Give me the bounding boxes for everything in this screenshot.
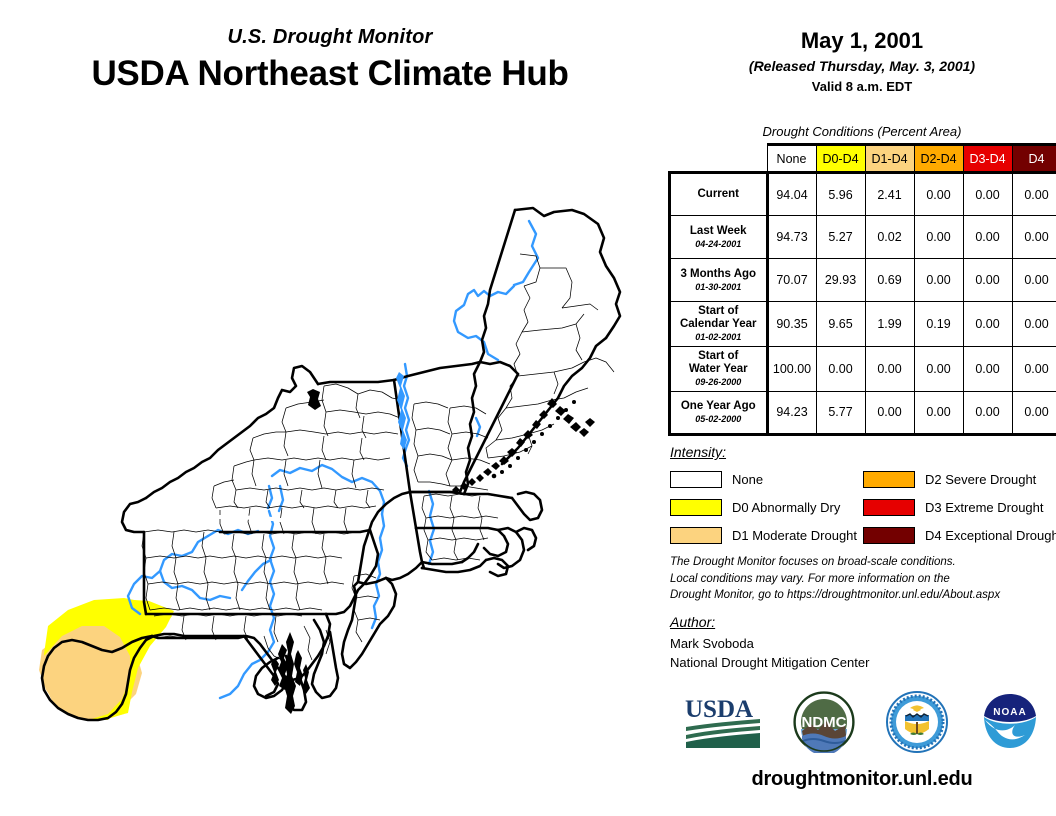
us-northeast-drought-map [24,186,660,726]
ndmc-logo-icon: NDMC [793,691,855,753]
legend-column-left: NoneD0 Abnormally DryD1 Moderate Drought [670,467,863,551]
table-cell: 1.99 [865,302,914,347]
table-row: Start ofWater Year09-26-2000100.000.000.… [670,346,1056,391]
drought-conditions-table-wrap: NoneD0-D4D1-D4D2-D4D3-D4D4 Current94.045… [668,143,1053,436]
table-corner-cell [670,145,768,173]
table-cell: 94.04 [767,173,816,216]
legend-swatch [670,527,722,544]
legend-label: D3 Extreme Drought [925,500,1044,515]
table-cell: 94.73 [767,216,816,259]
table-cell: 0.00 [914,173,963,216]
table-cell: 0.00 [1012,391,1056,434]
table-row-label: Start ofWater Year09-26-2000 [670,346,768,391]
table-cell: 0.00 [963,259,1012,302]
table-caption: Drought Conditions (Percent Area) [668,124,1056,139]
row-label-date: 05-02-2000 [673,414,764,424]
intensity-legend: Intensity: NoneD0 Abnormally DryD1 Moder… [670,444,1056,551]
author-heading: Author: [670,614,1056,630]
logo-row: USDA NDMC [668,688,1056,760]
legend-swatch [863,499,915,516]
legend-swatch [863,527,915,544]
legend-label: D4 Exceptional Drought [925,528,1056,543]
table-column-header-d3-d4: D3-D4 [963,145,1012,173]
usda-seal-icon [886,691,948,753]
table-cell: 0.00 [816,346,865,391]
table-cell: 0.00 [1012,346,1056,391]
table-cell: 0.00 [914,259,963,302]
author-name: Mark Svoboda [670,635,1056,654]
table-cell: 0.00 [963,346,1012,391]
table-row: 3 Months Ago01-30-200170.0729.930.690.00… [670,259,1056,302]
table-cell: 0.00 [1012,302,1056,347]
disclaimer-line-3: Drought Monitor, go to https://droughtmo… [670,587,1056,604]
disclaimer-line-2: Local conditions may vary. For more info… [670,571,1056,588]
table-column-header-d1-d4: D1-D4 [865,145,914,173]
table-header-row: NoneD0-D4D1-D4D2-D4D3-D4D4 [670,145,1056,173]
table-row: Current94.045.962.410.000.000.00 [670,173,1056,216]
table-cell: 5.77 [816,391,865,434]
noaa-logo-icon: NOAA [979,691,1041,753]
row-label-date: 09-26-2000 [673,377,764,387]
legend-label: D2 Severe Drought [925,472,1036,487]
table-cell: 0.19 [914,302,963,347]
table-cell: 0.00 [963,216,1012,259]
legend-label: None [732,472,763,487]
table-cell: 70.07 [767,259,816,302]
table-row-label: 3 Months Ago01-30-2001 [670,259,768,302]
table-cell: 0.00 [914,216,963,259]
row-label-text: Last Week [690,225,747,237]
table-column-header-none: None [767,145,816,173]
legend-item: D1 Moderate Drought [670,523,863,547]
author-block: Author: Mark Svoboda National Drought Mi… [670,614,1056,673]
row-label-date: 04-24-2001 [673,239,764,249]
table-row: One Year Ago05-02-200094.235.770.000.000… [670,391,1056,434]
table-cell: 2.41 [865,173,914,216]
table-cell: 0.00 [865,391,914,434]
row-label-date: 01-30-2001 [673,282,764,292]
right-header-block: May 1, 2001 (Released Thursday, May. 3, … [668,28,1056,94]
release-note: (Released Thursday, May. 3, 2001) [668,58,1056,74]
table-cell: 0.00 [1012,259,1056,302]
page-title: USDA Northeast Climate Hub [0,54,660,94]
table-cell: 0.00 [963,302,1012,347]
row-label-text: One Year Ago [681,400,756,412]
table-cell: 0.69 [865,259,914,302]
table-cell: 90.35 [767,302,816,347]
table-column-header-d4: D4 [1012,145,1056,173]
svg-text:NDMC: NDMC [801,714,846,731]
table-cell: 0.00 [865,346,914,391]
table-column-header-d2-d4: D2-D4 [914,145,963,173]
row-label-text: Start ofWater Year [689,350,748,375]
valid-time: Valid 8 a.m. EDT [668,79,1056,94]
table-head: NoneD0-D4D1-D4D2-D4D3-D4D4 [670,145,1056,173]
row-label-text: Current [697,188,739,200]
table-row-label: Start ofCalendar Year01-02-2001 [670,302,768,347]
svg-text:NOAA: NOAA [993,707,1026,718]
table-cell: 0.00 [1012,216,1056,259]
legend-swatch [670,499,722,516]
noaa-logo: NOAA [979,691,1041,758]
usda-logo: USDA [684,693,762,756]
legend-column-right: D2 Severe DroughtD3 Extreme DroughtD4 Ex… [863,467,1056,551]
legend-swatch [863,471,915,488]
table-cell: 29.93 [816,259,865,302]
site-url: droughtmonitor.unl.edu [668,768,1056,791]
table-cell: 94.23 [767,391,816,434]
row-label-text: Start ofCalendar Year [680,305,757,330]
row-label-text: 3 Months Ago [680,268,756,280]
map-svg [24,186,660,726]
table-cell: 0.00 [914,346,963,391]
legend-item: D4 Exceptional Drought [863,523,1056,547]
svg-text:USDA: USDA [685,696,753,723]
drought-conditions-table: NoneD0-D4D1-D4D2-D4D3-D4D4 Current94.045… [668,143,1056,436]
usda-seal-logo [886,691,948,758]
table-body: Current94.045.962.410.000.000.00Last Wee… [670,173,1056,435]
left-title-block: U.S. Drought Monitor USDA Northeast Clim… [0,26,660,94]
ndmc-logo: NDMC [793,691,855,758]
author-organization: National Drought Mitigation Center [670,654,1056,673]
disclaimer-line-1: The Drought Monitor focuses on broad-sca… [670,554,1056,571]
usda-logo-icon: USDA [684,693,762,751]
table-row: Start ofCalendar Year01-02-200190.359.65… [670,302,1056,347]
table-column-header-d0-d4: D0-D4 [816,145,865,173]
legend-item: None [670,467,863,491]
table-cell: 100.00 [767,346,816,391]
table-row-label: Current [670,173,768,216]
legend-label: D0 Abnormally Dry [732,500,840,515]
drought-monitor-kicker: U.S. Drought Monitor [0,26,660,48]
intensity-heading: Intensity: [670,444,1056,460]
table-cell: 9.65 [816,302,865,347]
disclaimer-text: The Drought Monitor focuses on broad-sca… [670,554,1056,604]
map-date: May 1, 2001 [668,28,1056,53]
legend-swatch [670,471,722,488]
row-label-date: 01-02-2001 [673,332,764,342]
table-cell: 5.96 [816,173,865,216]
table-cell: 0.00 [1012,173,1056,216]
legend-item: D3 Extreme Drought [863,495,1056,519]
table-cell: 0.00 [963,391,1012,434]
legend-item: D0 Abnormally Dry [670,495,863,519]
table-row-label: One Year Ago05-02-2000 [670,391,768,434]
table-cell: 5.27 [816,216,865,259]
table-cell: 0.00 [963,173,1012,216]
table-cell: 0.00 [914,391,963,434]
legend-item: D2 Severe Drought [863,467,1056,491]
table-cell: 0.02 [865,216,914,259]
table-row: Last Week04-24-200194.735.270.020.000.00… [670,216,1056,259]
legend-label: D1 Moderate Drought [732,528,857,543]
table-row-label: Last Week04-24-2001 [670,216,768,259]
